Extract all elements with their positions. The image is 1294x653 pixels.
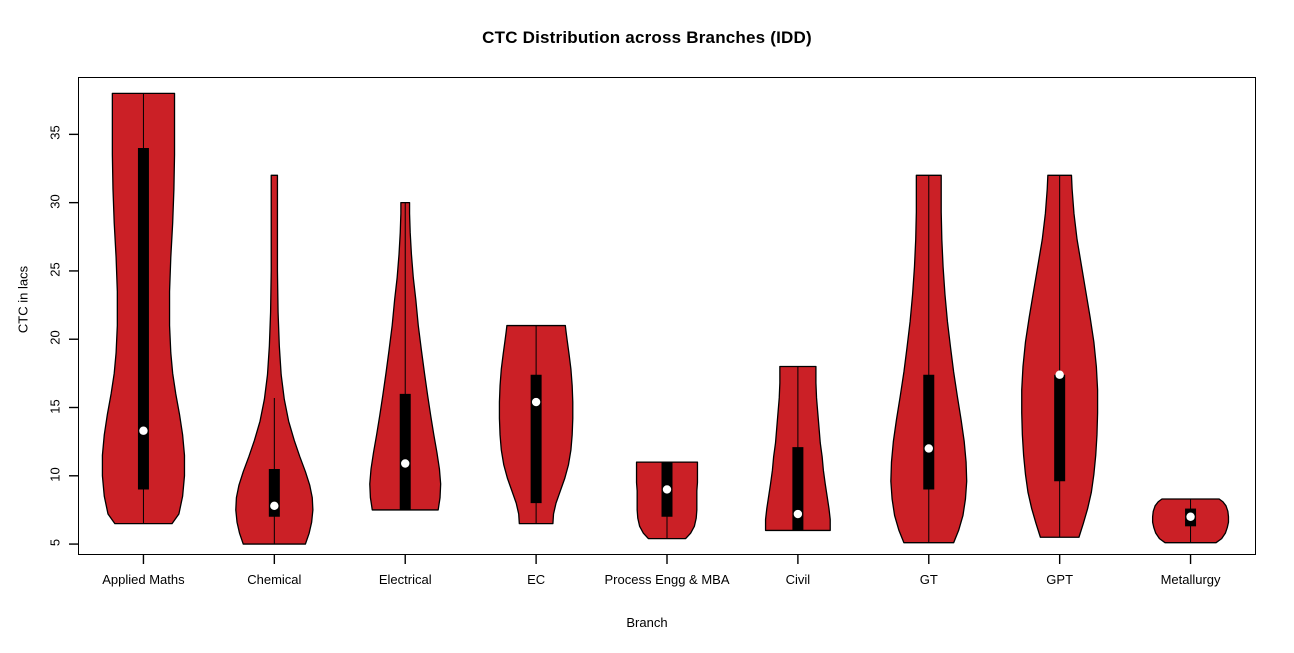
x-tick-label: Applied Maths	[102, 572, 184, 587]
x-tick-label: GT	[920, 572, 938, 587]
plot-frame	[78, 77, 1256, 555]
y-tick-label: 20	[48, 318, 63, 358]
y-tick-label: 25	[48, 249, 63, 289]
y-tick-label: 35	[48, 113, 63, 153]
violin-plot-figure: CTC Distribution across Branches (IDD) C…	[0, 0, 1294, 653]
x-tick-label: EC	[527, 572, 545, 587]
y-tick-label: 5	[48, 523, 63, 563]
y-tick-label: 10	[48, 454, 63, 494]
x-tick-label: Process Engg & MBA	[605, 572, 730, 587]
x-tick-label: Civil	[786, 572, 811, 587]
y-tick-label: 15	[48, 386, 63, 426]
x-tick-label: GPT	[1046, 572, 1073, 587]
x-tick-label: Chemical	[247, 572, 301, 587]
x-tick-label: Metallurgy	[1161, 572, 1221, 587]
y-tick-label: 30	[48, 181, 63, 221]
x-axis-title: Branch	[0, 615, 1294, 630]
x-tick-label: Electrical	[379, 572, 432, 587]
